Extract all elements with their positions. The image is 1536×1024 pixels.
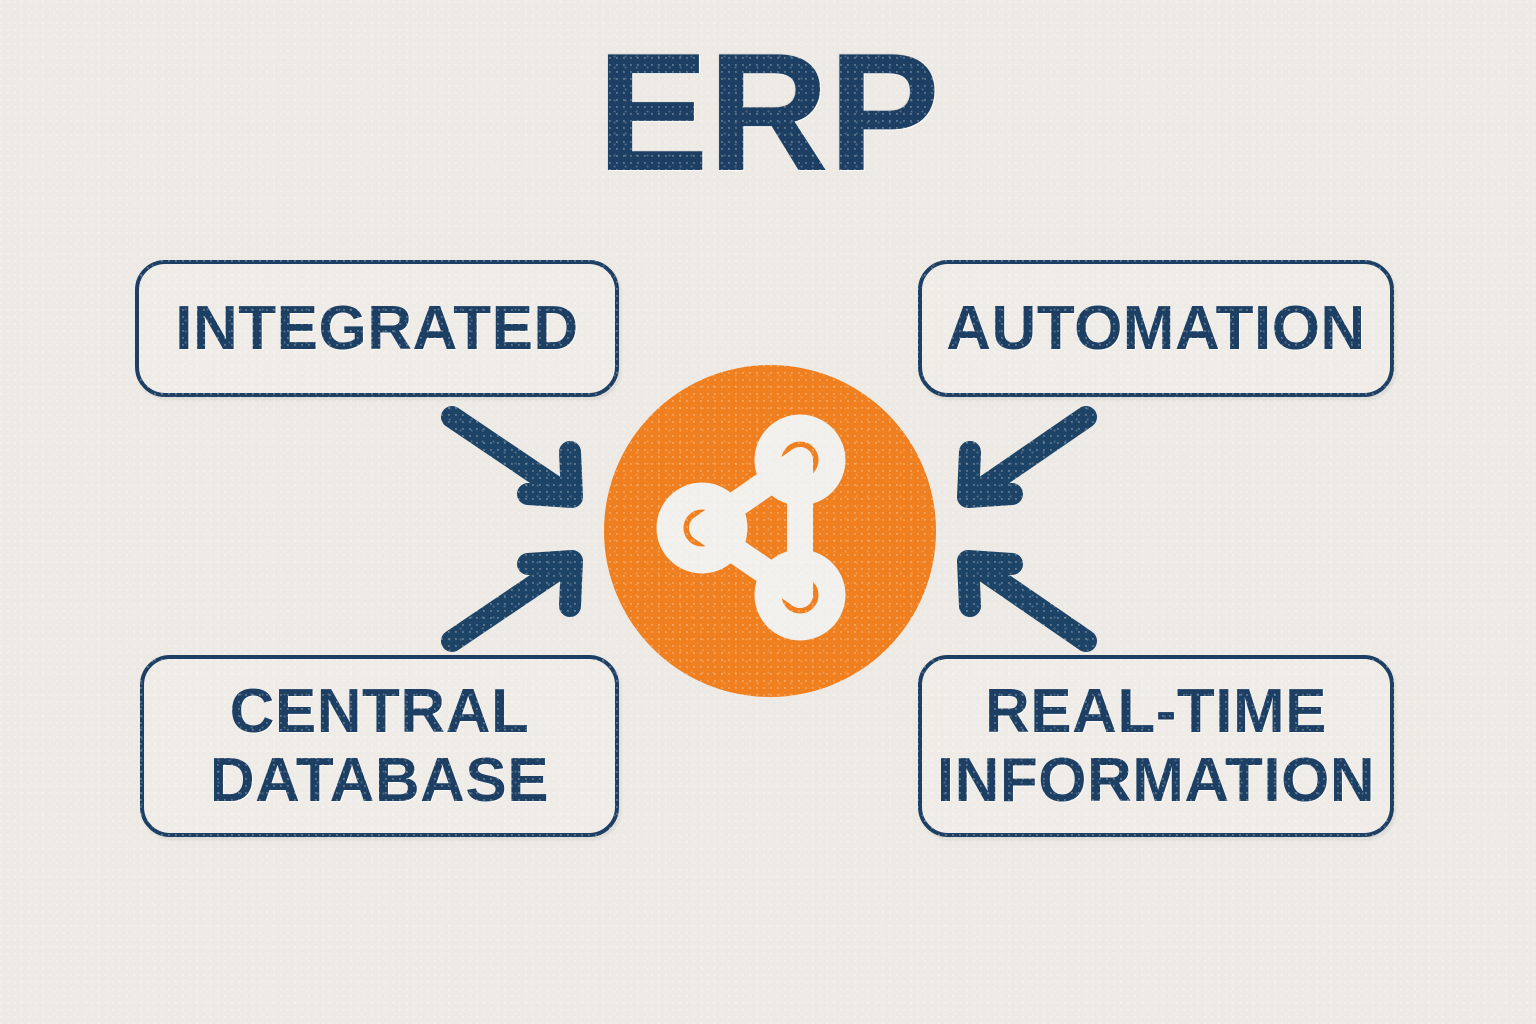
arrow-automation-to-hub xyxy=(968,417,1086,497)
box-central-database[interactable]: CENTRAL DATABASE xyxy=(140,655,619,837)
box-integrated-label: INTEGRATED xyxy=(175,294,578,363)
arrow-central-database-to-hub xyxy=(452,561,572,641)
box-integrated[interactable]: INTEGRATED xyxy=(135,260,619,397)
arrow-integrated-to-hub xyxy=(452,417,572,497)
box-automation[interactable]: AUTOMATION xyxy=(918,260,1394,397)
box-central-database-label: CENTRAL DATABASE xyxy=(210,677,549,816)
box-real-time-information[interactable]: REAL-TIME INFORMATION xyxy=(918,655,1394,837)
erp-hub-circle[interactable] xyxy=(604,365,936,697)
box-automation-label: AUTOMATION xyxy=(946,294,1365,363)
arrow-real-time-information-to-hub xyxy=(968,561,1086,641)
network-share-icon xyxy=(604,365,936,697)
box-real-time-information-label: REAL-TIME INFORMATION xyxy=(937,677,1375,816)
diagram-canvas: ERP xyxy=(0,0,1536,1024)
page-title: ERP xyxy=(0,28,1536,196)
